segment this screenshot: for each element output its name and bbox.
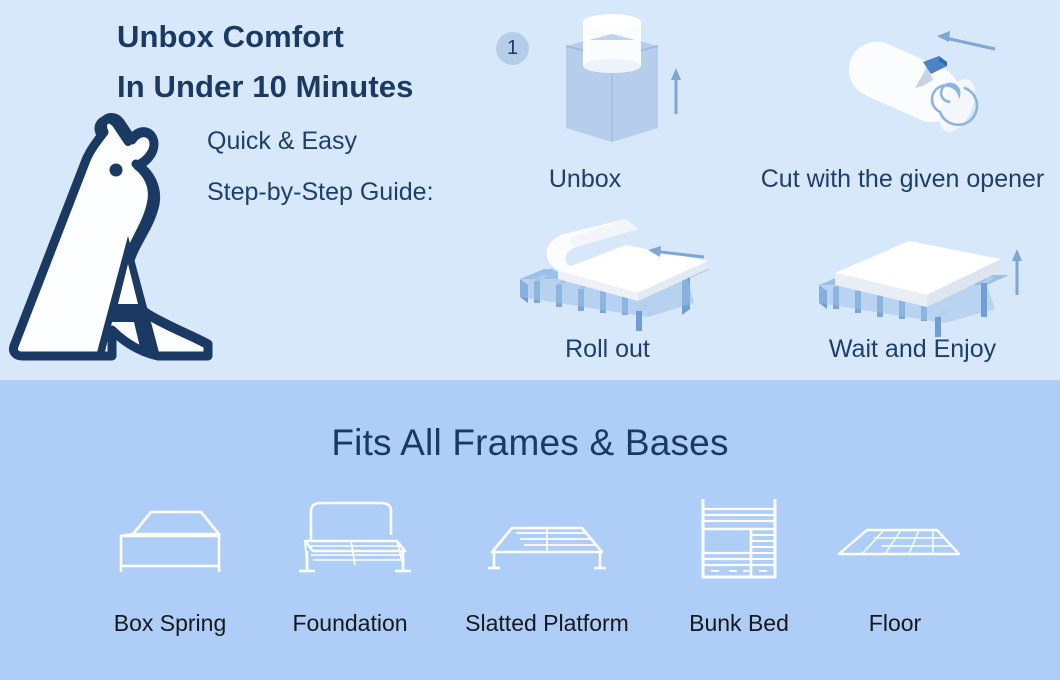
kangaroo-letter-a-logo bbox=[8, 108, 248, 370]
step-2-label: Cut with the given opener bbox=[745, 165, 1060, 194]
frame-label-foundation: Foundation bbox=[250, 610, 450, 637]
box-spring-icon bbox=[70, 488, 270, 598]
unboxing-steps-section: Unbox Comfort In Under 10 Minutes Quick … bbox=[0, 0, 1060, 380]
rolled-mattress-cutter-icon bbox=[823, 18, 1013, 158]
frame-label-floor: Floor bbox=[795, 610, 995, 637]
expanded-mattress-icon bbox=[805, 225, 1035, 340]
step-1-unbox: 1 Unbox bbox=[480, 10, 690, 205]
frames-row: Box Spring Foundation bbox=[0, 488, 1060, 658]
page-title: Unbox Comfort In Under 10 Minutes bbox=[117, 12, 413, 112]
frame-item-box-spring: Box Spring bbox=[70, 488, 270, 637]
box-with-mattress-icon bbox=[528, 10, 688, 160]
frame-label-slatted-platform: Slatted Platform bbox=[447, 610, 647, 637]
mattress-unrolling-icon bbox=[498, 215, 733, 340]
headline-line-1: Unbox Comfort bbox=[117, 19, 344, 54]
step-4-label: Wait and Enjoy bbox=[765, 335, 1060, 364]
fits-all-frames-section: Fits All Frames & Bases Box Spring bbox=[0, 380, 1060, 680]
step-4-wait-enjoy: Wait and Enjoy bbox=[765, 215, 1060, 375]
foundation-bed-icon bbox=[250, 488, 450, 598]
step-1-number-badge: 1 bbox=[496, 32, 529, 65]
step-2-cut: Cut with the given opener bbox=[745, 10, 1060, 205]
step-3-roll-out: Roll out bbox=[480, 215, 735, 375]
frame-item-foundation: Foundation bbox=[250, 488, 450, 637]
headline-line-2: In Under 10 Minutes bbox=[117, 62, 413, 112]
step-1-label: Unbox bbox=[480, 165, 690, 194]
slatted-platform-icon bbox=[447, 488, 647, 598]
infographic-page: Unbox Comfort In Under 10 Minutes Quick … bbox=[0, 0, 1060, 680]
floor-grid-icon bbox=[795, 488, 995, 598]
frames-section-title: Fits All Frames & Bases bbox=[0, 422, 1060, 464]
frame-label-box-spring: Box Spring bbox=[70, 610, 270, 637]
frame-item-slatted-platform: Slatted Platform bbox=[447, 488, 647, 637]
frame-item-floor: Floor bbox=[795, 488, 995, 637]
step-3-label: Roll out bbox=[480, 335, 735, 364]
